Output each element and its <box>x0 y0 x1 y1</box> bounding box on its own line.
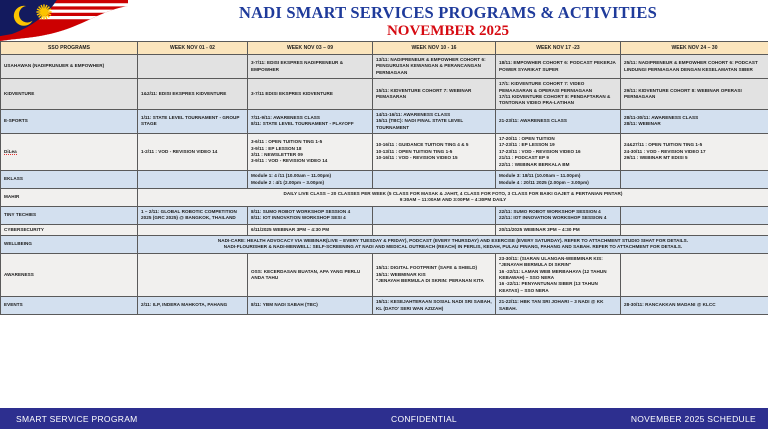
cell-r10-c1: 8/11: YBM NADI SABAH (TBC) <box>248 297 373 315</box>
cell-r0-c0 <box>138 55 248 79</box>
cell-r9-c0 <box>138 253 248 296</box>
row-label-cybersecurity: CYBERSECURITY <box>1 224 138 235</box>
merged-cell: DAILY LIVE CLASS – 20 CLASSES PER WEEK (… <box>138 188 768 206</box>
cell-r0-c4: 25/11: NADIPRENEUR & EMPOWHER COHORT 6: … <box>621 55 768 79</box>
cell-r9-c4 <box>621 253 768 296</box>
column-header-sso-programs: SSO PROGRAMS <box>1 42 138 55</box>
cell-r0-c2: 13/11: NADIPRENEUR & EMPOWHER COHORT 6: … <box>373 55 496 79</box>
table-row: USAHAWAN (NADIPRUNUER & EMPOWHER)3-7/11:… <box>1 55 768 79</box>
table-body: USAHAWAN (NADIPRUNUER & EMPOWHER)3-7/11:… <box>1 55 768 315</box>
footer-center-text: CONFIDENTIAL <box>330 414 518 424</box>
table-row: WELLBEINGNADI-CARE: HEALTH ADVOCACY VIA … <box>1 235 768 253</box>
cell-r7-c4 <box>621 224 768 235</box>
column-header-week-1: WEEK NOV 01 - 02 <box>138 42 248 55</box>
cell-line: 8/11: STATE LEVEL TOURNAMENT - PLAYOFF <box>251 121 369 127</box>
row-label-dilea: DiLea <box>1 134 138 171</box>
row-label-wellbeing: WELLBEING <box>1 235 138 253</box>
cell-line: 13/11: NADIPRENEUR & EMPOWHER COHORT 6: … <box>376 57 492 76</box>
cell-line: Module 2 : 4/1 (2.00pm – 3.00pm) <box>251 180 369 186</box>
title-block: NADI SMART SERVICES PROGRAMS & ACTIVITIE… <box>128 0 768 41</box>
cell-r2-c2: 14/11-16/11: AWARENESS CLASS15/11 (TBC):… <box>373 109 496 133</box>
cell-line: 1&2/11: EDISI EKSPRES KIDVENTURE <box>141 91 244 97</box>
cell-line: 21-23/11: AWARENESS CLASS <box>499 118 617 124</box>
cell-line: 15/11 (TBC): NADI FINAL STATE LEVEL TOUR… <box>376 118 492 131</box>
cell-r3-c3: 17-20/11 : OPEN TUITION17-23/11 : EP LES… <box>496 134 621 171</box>
row-label-eklass: EKLASS <box>1 171 138 189</box>
cell-r6-c2 <box>373 206 496 224</box>
row-label-mahir: MAHIR <box>1 188 138 206</box>
cell-line: 22/11 : WEBINAR BERKALA BM <box>499 162 617 168</box>
cell-r7-c3: 20/11/2025 WEBINAR 3PM – 4:30 PM <box>496 224 621 235</box>
cell-r6-c0: 1 – 2/11: GLOBAL ROBOTIC COMPETITION 202… <box>138 206 248 224</box>
cell-r6-c3: 22/11: SUMO ROBOT WORKSHOP SESSION 422/1… <box>496 206 621 224</box>
cell-r4-c2 <box>373 171 496 189</box>
cell-line: 10-16/11 : VOD - REVISION VIDEO 15 <box>376 155 492 161</box>
cell-r10-c4: 28-30/11: RANCAKKAN MADANI @ KLCC <box>621 297 768 315</box>
cell-line: 1-2/11 : VOD - REVISION VIDEO 14 <box>141 149 244 155</box>
malaysia-flag-icon <box>0 0 128 41</box>
schedule-page: NADI SMART SERVICES PROGRAMS & ACTIVITIE… <box>0 0 768 429</box>
row-label-tiny-techies: TINY TECHIES <box>1 206 138 224</box>
footer-right-text: NOVEMBER 2025 SCHEDULE <box>518 414 768 424</box>
row-label-usahawan-nadiprunuer-empowher: USAHAWAN (NADIPRUNUER & EMPOWHER) <box>1 55 138 79</box>
cell-line: 17/1: KIDVENTURE COHORT 7: VIDEO PEMAASA… <box>499 81 617 94</box>
table-row: KIDVENTURE1&2/11: EDISI EKSPRES KIDVENTU… <box>1 79 768 110</box>
cell-r10-c2: 15/11: KESEJAHTERAAN SOSIAL NADI SRI SAB… <box>373 297 496 315</box>
cell-line: 15/11: KIDVENTURE COHORT 7: WEBINAR PEMA… <box>376 88 492 101</box>
cell-line: 16 -22/11: LAMAN WEB MERBAHAYA (12 TAHUN… <box>499 269 617 282</box>
table-row: MAHIRDAILY LIVE CLASS – 20 CLASSES PER W… <box>1 188 768 206</box>
cell-line: 3-9/11 : VOD - REVISION VIDEO 14 <box>251 158 369 164</box>
cell-line: 17/11 KIDVENTURE COHORT 8: PENDAFTARAN &… <box>499 94 617 107</box>
cell-line: 29/11: KIDVENTURE COHORT 8: WEBINAR OPER… <box>624 88 765 101</box>
column-header-week-4: WEEK NOV 17 -23 <box>496 42 621 55</box>
cell-line: NADI-FLOURISHER & NADI-MENWELL: SELF-SCR… <box>141 244 765 250</box>
table-row: E-SPORTS1/11: STATE LEVEL TOURNAMENT - G… <box>1 109 768 133</box>
cell-r0-c1: 3-7/11: EDISI EKSPRES NADIPRENEUR & EMPO… <box>248 55 373 79</box>
footer-left-text: SMART SERVICE PROGRAM <box>0 414 330 424</box>
row-label-kidventure: KIDVENTURE <box>1 79 138 110</box>
cell-line: 15/11: KESEJAHTERAAN SOSIAL NADI SRI SAB… <box>376 299 492 312</box>
table-row: CYBERSECURITY6/11/2025 WEBINAR 3PM – 4:3… <box>1 224 768 235</box>
cell-r2-c3: 21-23/11: AWARENESS CLASS <box>496 109 621 133</box>
cell-line: 20/11/2025 WEBINAR 3PM – 4:30 PM <box>499 227 617 233</box>
page-footer: SMART SERVICE PROGRAM CONFIDENTIAL NOVEM… <box>0 408 768 429</box>
cell-r9-c3: 23-30/11: (SIARAN ULANGAN-WEBMINAR KIS: … <box>496 253 621 296</box>
cell-line: 8/11: YBM NADI SABAH (TBC) <box>251 302 369 308</box>
cell-line: 3-7/11 EDISI EKSPRES KIDVENTURE <box>251 91 369 97</box>
row-label-awareness: AWARENESS <box>1 253 138 296</box>
table-header-row: SSO PROGRAMS WEEK NOV 01 - 02 WEEK NOV 0… <box>1 42 768 55</box>
row-label-text: DiLea <box>4 149 17 155</box>
page-header: NADI SMART SERVICES PROGRAMS & ACTIVITIE… <box>0 0 768 41</box>
table-row: EKLASSModule 1: 4 /11 (10.00am – 11.00pm… <box>1 171 768 189</box>
cell-line: 25/11: NADIPRENEUR & EMPOWHER COHORT 6: … <box>624 60 765 73</box>
cell-r6-c4 <box>621 206 768 224</box>
cell-r0-c3: 18/11: EMPOWHER COHORT 6: PODCAST PEKERJ… <box>496 55 621 79</box>
row-label-events: EVENTS <box>1 297 138 315</box>
cell-line: 2/11: ILP, INDERA MAHKOTA, PAHANG <box>141 302 244 308</box>
schedule-table: SSO PROGRAMS WEEK NOV 01 - 02 WEEK NOV 0… <box>0 41 768 315</box>
table-row: DiLea1-2/11 : VOD - REVISION VIDEO 143-6… <box>1 134 768 171</box>
cell-r4-c1: Module 1: 4 /11 (10.00am – 11.00pm)Modul… <box>248 171 373 189</box>
cell-line: 29/11 : WEBINAR MT EDISI 5 <box>624 155 765 161</box>
cell-line: OSS: KECERDASAN BUATAN, APA YANG PERLU A… <box>251 269 369 282</box>
row-label-e-sports: E-SPORTS <box>1 109 138 133</box>
cell-line: 3-7/11: EDISI EKSPRES NADIPRENEUR & EMPO… <box>251 60 369 73</box>
cell-line: 1/11: STATE LEVEL TOURNAMENT - GROUP STA… <box>141 115 244 128</box>
cell-line: Module 4 : 20/11 2025 (2.00pm – 3.00pm) <box>499 180 617 186</box>
cell-line: 15/11: DIGITAL FOOTPRINT (SAFE & SHIELD) <box>376 265 492 271</box>
cell-r3-c2: 10-16/11 : GUIDANCE TUITION TING 4 & 510… <box>373 134 496 171</box>
cell-line: 21-22/11: HBK TAN SRI JOHARI – 3 NADI @ … <box>499 299 617 312</box>
column-header-week-3: WEEK NOV 10 - 16 <box>373 42 496 55</box>
cell-line: 22/11: IOT INNOVATION WORKSHOP SESSION 4 <box>499 215 617 221</box>
page-title: NADI SMART SERVICES PROGRAMS & ACTIVITIE… <box>128 2 768 23</box>
cell-line: 8/11: IOT INNOVATION WORKSHOP SESI 4 <box>251 215 369 221</box>
cell-r1-c1: 3-7/11 EDISI EKSPRES KIDVENTURE <box>248 79 373 110</box>
cell-r1-c3: 17/1: KIDVENTURE COHORT 7: VIDEO PEMAASA… <box>496 79 621 110</box>
cell-r6-c1: 8/11: SUMO ROBOT WORKSHOP SESSION 48/11:… <box>248 206 373 224</box>
cell-r4-c4 <box>621 171 768 189</box>
cell-r10-c3: 21-22/11: HBK TAN SRI JOHARI – 3 NADI @ … <box>496 297 621 315</box>
table-row: EVENTS2/11: ILP, INDERA MAHKOTA, PAHANG8… <box>1 297 768 315</box>
cell-r1-c2: 15/11: KIDVENTURE COHORT 7: WEBINAR PEMA… <box>373 79 496 110</box>
table-row: AWARENESSOSS: KECERDASAN BUATAN, APA YAN… <box>1 253 768 296</box>
column-header-week-5: WEEK NOV 24 – 30 <box>621 42 768 55</box>
cell-r7-c1: 6/11/2025 WEBINAR 3PM – 4:30 PM <box>248 224 373 235</box>
cell-line: 9:30AM – 11:00AM AND 3:00PM – 4:30PM DAI… <box>141 197 765 203</box>
cell-line: 1 – 2/11: GLOBAL ROBOTIC COMPETITION 202… <box>141 209 244 222</box>
cell-line: 28/11: WEBINAR <box>624 121 765 127</box>
page-subtitle: NOVEMBER 2025 <box>128 23 768 40</box>
cell-line: 6/11/2025 WEBINAR 3PM – 4:30 PM <box>251 227 369 233</box>
table-row: TINY TECHIES1 – 2/11: GLOBAL ROBOTIC COM… <box>1 206 768 224</box>
merged-cell: NADI-CARE: HEALTH ADVOCACY VIA WEBINAR(L… <box>138 235 768 253</box>
cell-r2-c0: 1/11: STATE LEVEL TOURNAMENT - GROUP STA… <box>138 109 248 133</box>
column-header-week-2: WEEK NOV 03 – 09 <box>248 42 373 55</box>
cell-r4-c0 <box>138 171 248 189</box>
cell-r2-c1: 7/11-9/11: AWARENESS CLASS8/11: STATE LE… <box>248 109 373 133</box>
cell-r1-c4: 29/11: KIDVENTURE COHORT 8: WEBINAR OPER… <box>621 79 768 110</box>
cell-r9-c1: OSS: KECERDASAN BUATAN, APA YANG PERLU A… <box>248 253 373 296</box>
cell-line: 18/11: EMPOWHER COHORT 6: PODCAST PEKERJ… <box>499 60 617 73</box>
cell-r4-c3: Module 3: 18/11 (10.00am – 11.00pm)Modul… <box>496 171 621 189</box>
cell-r3-c1: 3-6/11 : OPEN TUITION TING 1-53-9/11 : E… <box>248 134 373 171</box>
cell-r10-c0: 2/11: ILP, INDERA MAHKOTA, PAHANG <box>138 297 248 315</box>
cell-line: "JENAYAH BERMULA DI SKRIN: PERANAN KITA <box>376 278 492 284</box>
cell-line: 28-30/11: RANCAKKAN MADANI @ KLCC <box>624 302 765 308</box>
cell-line: 16 -22/11: PENYANTUNAN SIBER (13 TAHUN K… <box>499 281 617 294</box>
cell-r7-c2 <box>373 224 496 235</box>
cell-line: 23-30/11: (SIARAN ULANGAN-WEBMINAR KIS: … <box>499 256 617 269</box>
cell-r7-c0 <box>138 224 248 235</box>
cell-r2-c4: 28/11-30/11: AWARENESS CLASS28/11: WEBIN… <box>621 109 768 133</box>
cell-r3-c4: 24&27/11 : OPEN TUITION TING 1-524-30/11… <box>621 134 768 171</box>
cell-r1-c0: 1&2/11: EDISI EKSPRES KIDVENTURE <box>138 79 248 110</box>
cell-r9-c2: 15/11: DIGITAL FOOTPRINT (SAFE & SHIELD)… <box>373 253 496 296</box>
cell-r3-c0: 1-2/11 : VOD - REVISION VIDEO 14 <box>138 134 248 171</box>
